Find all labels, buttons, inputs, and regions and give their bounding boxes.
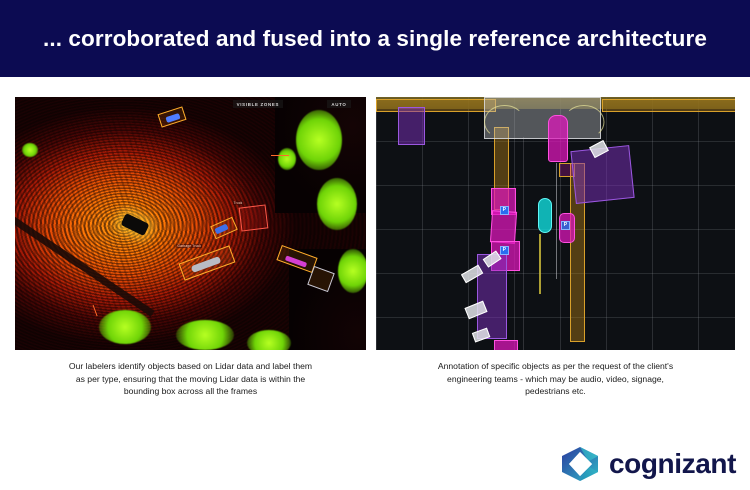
- pedestrian-marker[interactable]: P: [500, 246, 509, 255]
- caption-left-line: Our labelers identify objects based on L…: [15, 360, 366, 373]
- caption-left-line: as per type, ensuring that the moving Li…: [15, 373, 366, 386]
- hud-label-visible-zones[interactable]: VISIBLE ZONES: [233, 100, 284, 108]
- pedestrian-marker[interactable]: P: [561, 221, 570, 230]
- title-banner: ... corroborated and fused into a single…: [0, 0, 750, 77]
- lane-volume[interactable]: [376, 99, 496, 112]
- caption-right-line: Annotation of specific objects as per th…: [376, 360, 735, 373]
- vegetation-cluster: [338, 249, 366, 293]
- vegetation-cluster: [22, 143, 38, 157]
- annotation-box-cyan[interactable]: [538, 198, 552, 233]
- vegetation-cluster: [247, 330, 291, 350]
- vegetation-cluster: [278, 148, 296, 170]
- hud-label-auto[interactable]: AUTO: [327, 100, 350, 108]
- vegetation-cluster: [176, 320, 234, 350]
- annotation-box-purple[interactable]: [477, 254, 508, 339]
- page-title: ... corroborated and fused into a single…: [43, 26, 707, 52]
- annotation-box-magenta[interactable]: [494, 340, 518, 350]
- vegetation-cluster: [296, 110, 342, 170]
- cognizant-cube-icon: [560, 446, 600, 482]
- lidar-scene: Truck Garbage Truck VISIBLE ZONES AUTO: [15, 97, 366, 350]
- turn-path-arc: [563, 105, 604, 140]
- cognizant-wordmark: cognizant: [609, 450, 736, 478]
- annotation-box-purple[interactable]: [398, 107, 425, 144]
- trajectory-line: [523, 137, 524, 350]
- direction-arrow: [271, 155, 289, 156]
- lidar-point-cloud-panel[interactable]: Truck Garbage Truck VISIBLE ZONES AUTO: [15, 97, 366, 350]
- caption-left: Our labelers identify objects based on L…: [15, 360, 366, 398]
- caption-right-line: engineering teams - which may be audio, …: [376, 373, 735, 386]
- slide-body: Truck Garbage Truck VISIBLE ZONES AUTO: [0, 77, 750, 490]
- annotation-box-magenta[interactable]: [490, 210, 518, 244]
- annotation-scene: P P P: [376, 97, 735, 350]
- vegetation-cluster: [317, 178, 357, 230]
- trajectory-line: [556, 163, 557, 279]
- caption-right: Annotation of specific objects as per th…: [376, 360, 735, 398]
- annotation-box-magenta[interactable]: [548, 115, 568, 163]
- pedestrian-marker[interactable]: P: [500, 206, 509, 215]
- caption-right-line: pedestrians etc.: [376, 385, 735, 398]
- cognizant-logo: cognizant: [560, 446, 736, 482]
- lane-center-line: [539, 234, 541, 295]
- object-label: Truck: [233, 201, 244, 205]
- object-annotation-panel[interactable]: P P P: [376, 97, 735, 350]
- lane-volume[interactable]: [602, 99, 735, 112]
- caption-left-line: bounding box across all the frames: [15, 385, 366, 398]
- object-bounding-box[interactable]: [238, 204, 268, 231]
- object-label: Garbage Truck: [176, 244, 202, 248]
- vegetation-cluster: [99, 310, 151, 344]
